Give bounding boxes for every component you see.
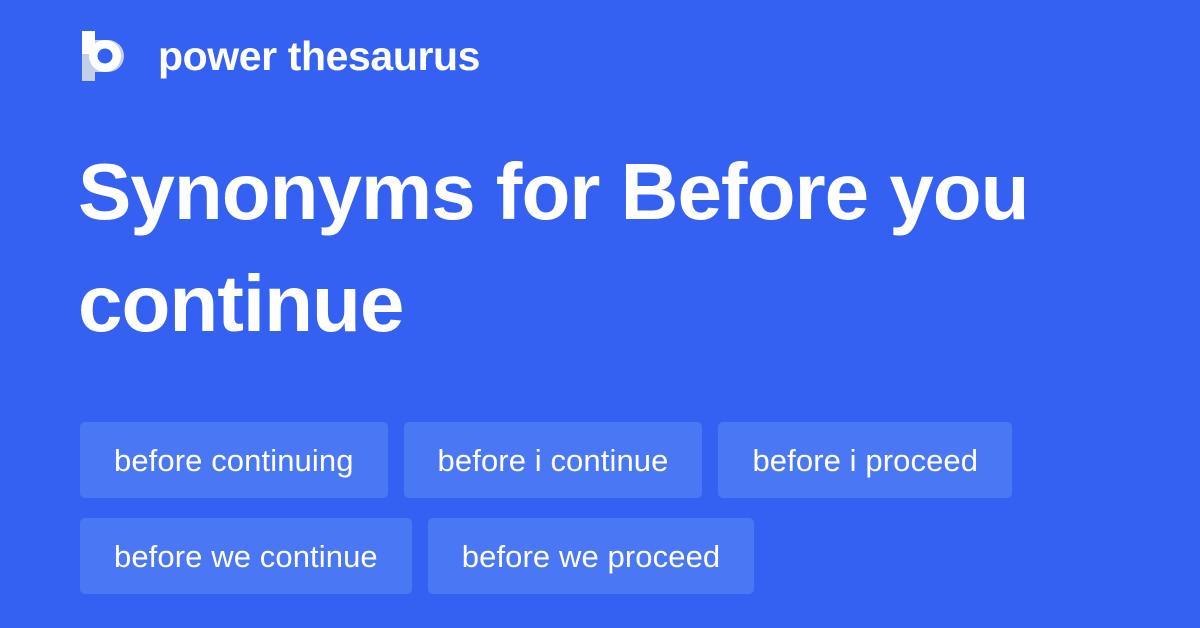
synonym-chip[interactable]: before i proceed xyxy=(718,422,1012,498)
synonym-chip[interactable]: before we proceed xyxy=(428,518,754,594)
page-title: Synonyms for Before you continue xyxy=(78,136,1088,360)
synonym-chip[interactable]: before we continue xyxy=(80,518,412,594)
synonym-chip[interactable]: before i continue xyxy=(404,422,703,498)
synonym-chip[interactable]: before continuing xyxy=(80,422,388,498)
brand-header[interactable]: power thesaurus xyxy=(78,26,480,86)
synonym-chip-list: before continuing before i continue befo… xyxy=(80,422,1120,594)
og-share-card: power thesaurus Synonyms for Before you … xyxy=(0,0,1200,628)
brand-name: power thesaurus xyxy=(158,36,480,77)
power-thesaurus-b-logo-icon xyxy=(78,29,132,83)
